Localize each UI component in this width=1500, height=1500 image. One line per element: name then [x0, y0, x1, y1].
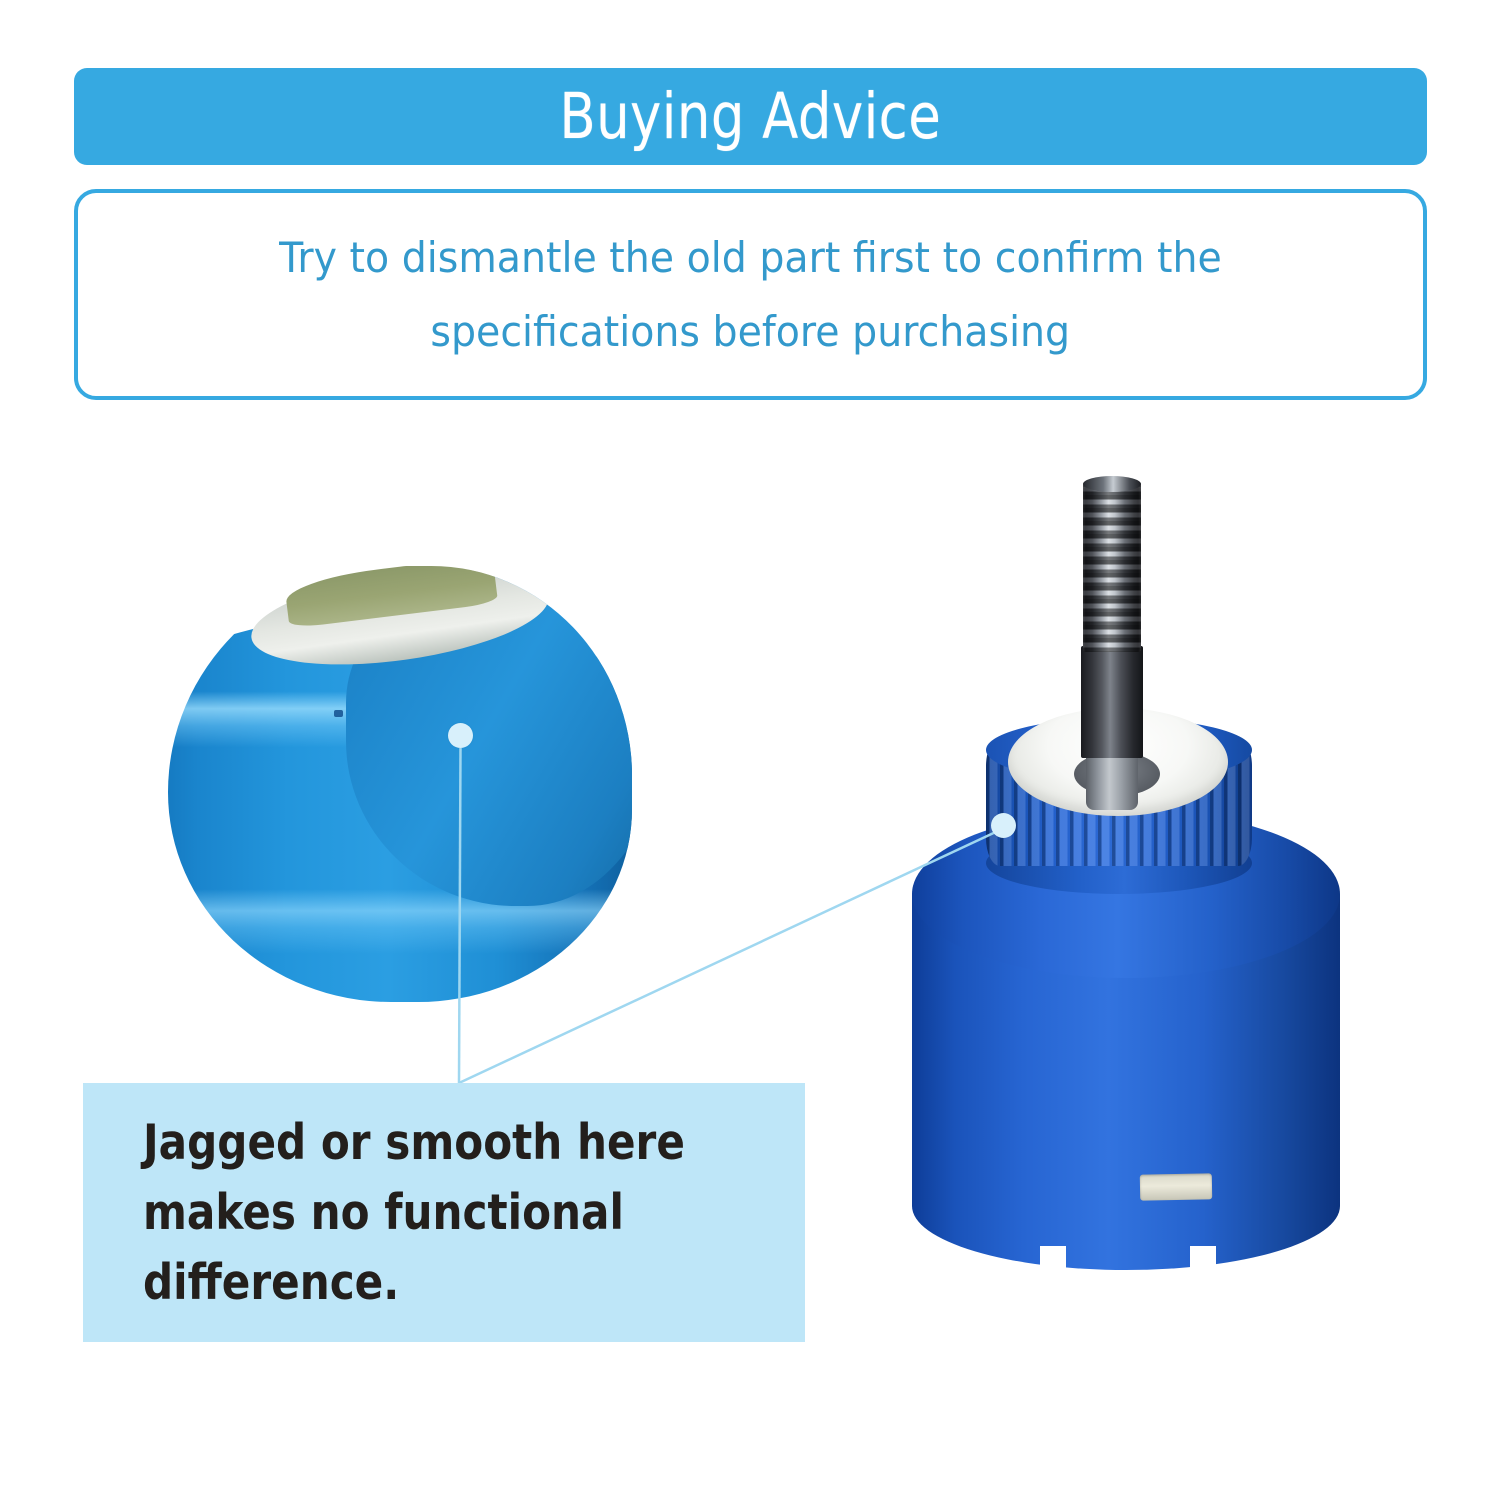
page-title: Buying Advice	[560, 85, 942, 148]
advice-line-1: Try to dismantle the old part first to c…	[279, 221, 1222, 295]
callout-line-2: makes no functional	[143, 1178, 712, 1248]
detail-clip-mask	[168, 566, 632, 1002]
detail-surface-speck	[334, 710, 343, 717]
stem-top-cap	[1083, 476, 1141, 492]
smooth-collar-dot-marker	[448, 723, 473, 748]
jagged-collar-dot-marker	[991, 813, 1016, 838]
base-notch-left	[1040, 1246, 1066, 1268]
magnified-detail-image	[168, 566, 632, 1002]
callout-line-1: Jagged or smooth here	[143, 1108, 712, 1178]
base-slot-opening	[1140, 1173, 1212, 1200]
cartridge-skirt	[912, 1110, 1340, 1238]
callout-box: Jagged or smooth here makes no functiona…	[83, 1083, 805, 1342]
product-image	[890, 470, 1360, 1280]
advice-text-box: Try to dismantle the old part first to c…	[74, 189, 1427, 400]
advice-line-2: specifications before purchasing	[431, 295, 1071, 369]
header-banner: Buying Advice	[74, 68, 1427, 165]
stem-shoulder	[1081, 646, 1143, 758]
base-notch-right	[1190, 1246, 1216, 1268]
threaded-stem	[1083, 482, 1141, 652]
callout-line-3: difference.	[143, 1248, 712, 1318]
